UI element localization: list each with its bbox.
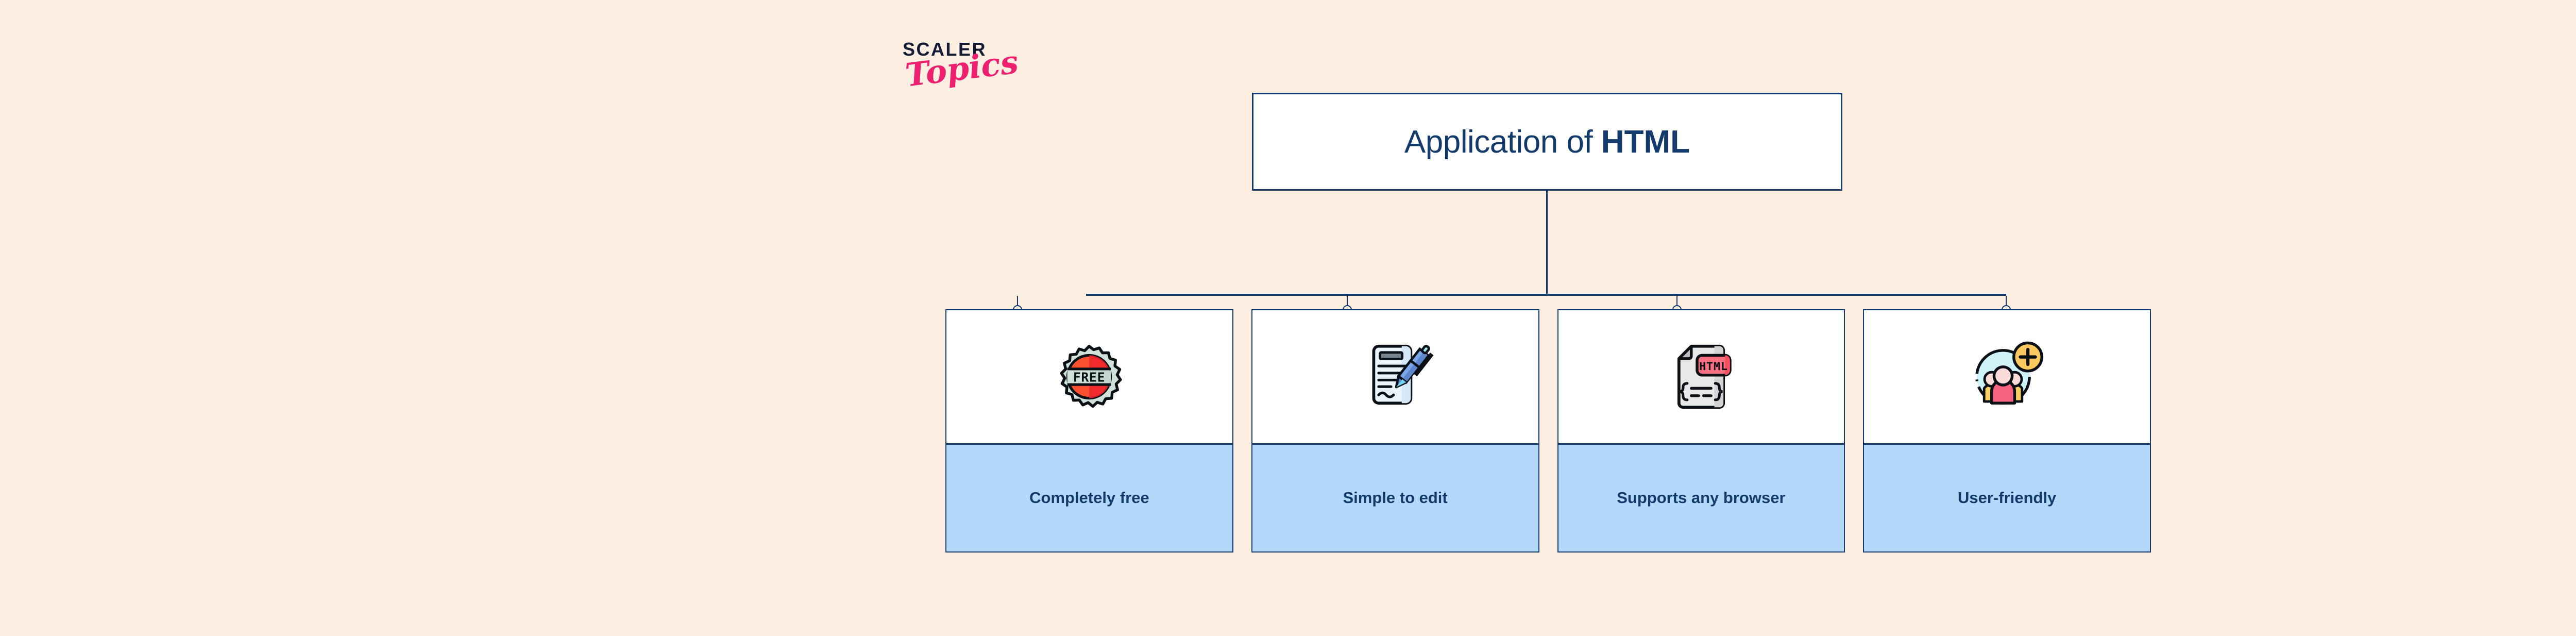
card-user-friendly[interactable]: User-friendly <box>1863 309 2151 553</box>
root-node-title-box: Application of HTML <box>1252 93 1842 191</box>
connector-stem-vertical <box>1546 191 1548 295</box>
scaler-topics-logo: SCALER Topics <box>903 40 1057 128</box>
free-badge-icon: FREE <box>1048 336 1130 418</box>
card-supports-any-browser[interactable]: HTML Supports any browser <box>1557 309 1845 553</box>
html-file-icon: HTML <box>1660 336 1742 418</box>
svg-text:HTML: HTML <box>1699 360 1728 373</box>
card-simple-to-edit[interactable]: Simple to edit <box>1251 309 1539 553</box>
card-label-area-1: Completely free <box>945 445 1233 553</box>
card-icon-area-4 <box>1863 309 2151 445</box>
card-label-text-2: Simple to edit <box>1343 488 1448 508</box>
page-title: Application of HTML <box>1404 124 1690 160</box>
svg-text:FREE: FREE <box>1073 370 1105 385</box>
card-label-area-2: Simple to edit <box>1251 445 1539 553</box>
card-label-text-1: Completely free <box>1029 488 1149 508</box>
card-completely-free[interactable]: FREE Completely free <box>945 309 1233 553</box>
card-label-text-4: User-friendly <box>1958 488 2056 508</box>
leaf-card-row: FREE Completely free <box>945 309 2151 553</box>
card-icon-area-2 <box>1251 309 1539 445</box>
diagram-canvas: SCALER Topics Application of HTML <box>0 0 2576 636</box>
page-title-prefix: Application of <box>1404 124 1601 160</box>
card-label-area-4: User-friendly <box>1863 445 2151 553</box>
card-label-area-3: Supports any browser <box>1557 445 1845 553</box>
card-label-text-3: Supports any browser <box>1617 488 1785 508</box>
page-title-emphasis: HTML <box>1601 124 1690 160</box>
add-users-group-icon <box>1966 336 2048 418</box>
document-pen-icon <box>1354 336 1436 418</box>
connector-horizontal-bus <box>1086 294 2006 296</box>
card-icon-area-3: HTML <box>1557 309 1845 445</box>
card-icon-area-1: FREE <box>945 309 1233 445</box>
